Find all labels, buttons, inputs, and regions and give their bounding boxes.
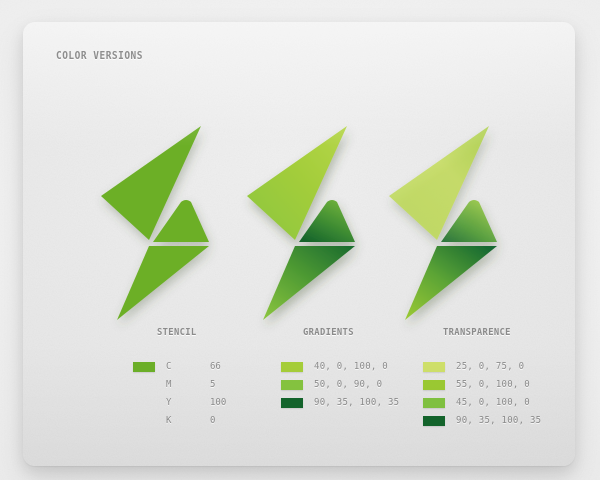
legend-row: Y 100 — [133, 395, 273, 410]
cmyk-channel-value: 0 — [210, 415, 215, 426]
swatch-spacer — [133, 398, 155, 408]
legend-row: 55, 0, 100, 0 — [423, 377, 575, 392]
color-swatch — [423, 398, 445, 408]
color-swatch — [423, 362, 445, 372]
logo-stencil — [87, 118, 247, 328]
logo-transparence — [375, 118, 535, 328]
legend-transparence: TRANSPARENCE 25, 0, 75, 0 55, 0, 100, 0 … — [423, 327, 575, 431]
legend-rows-transparence: 25, 0, 75, 0 55, 0, 100, 0 45, 0, 100, 0… — [423, 359, 575, 428]
logo-facet-lower-wing — [117, 246, 209, 320]
color-swatch — [133, 362, 155, 372]
legend-rows-stencil: C 66 M 5 Y 100 K 0 — [133, 359, 273, 428]
legend-row: 25, 0, 75, 0 — [423, 359, 575, 374]
logo-facet-lower-wing — [405, 246, 497, 320]
legend-row: K 0 — [133, 413, 273, 428]
legend-row: M 5 — [133, 377, 273, 392]
color-swatch — [423, 380, 445, 390]
cmyk-channel-label: K — [166, 415, 206, 426]
cmyk-channel-label: C — [166, 361, 206, 372]
legend-row: 90, 35, 100, 35 — [423, 413, 575, 428]
cmyk-value-label: 55, 0, 100, 0 — [456, 379, 530, 390]
legend-row: 45, 0, 100, 0 — [423, 395, 575, 410]
cmyk-value-label: 50, 0, 90, 0 — [314, 379, 382, 390]
legend-row: 50, 0, 90, 0 — [281, 377, 431, 392]
legend-row: C 66 — [133, 359, 273, 374]
legend-row: 40, 0, 100, 0 — [281, 359, 431, 374]
color-swatch — [281, 362, 303, 372]
cmyk-value-label: 90, 35, 100, 35 — [314, 397, 399, 408]
logo-gradients — [233, 118, 393, 328]
cmyk-value-label: 40, 0, 100, 0 — [314, 361, 388, 372]
logo-facet-lower-wing — [263, 246, 355, 320]
page-title: COLOR VERSIONS — [56, 49, 143, 62]
legend-title-stencil: STENCIL — [157, 327, 259, 338]
legend-rows-gradients: 40, 0, 100, 0 50, 0, 90, 0 90, 35, 100, … — [281, 359, 431, 410]
cmyk-channel-label: Y — [166, 397, 206, 408]
cmyk-channel-value: 66 — [210, 361, 221, 372]
swatch-spacer — [133, 416, 155, 426]
cmyk-value-label: 25, 0, 75, 0 — [456, 361, 524, 372]
page-root: COLOR VERSIONS — [0, 0, 600, 480]
legend-stencil: STENCIL C 66 M 5 Y 100 — [133, 327, 273, 431]
legend-row: 90, 35, 100, 35 — [281, 395, 431, 410]
cmyk-channel-value: 100 — [210, 397, 226, 408]
cmyk-value-label: 90, 35, 100, 35 — [456, 415, 541, 426]
color-swatch — [423, 416, 445, 426]
cmyk-channel-label: M — [166, 379, 206, 390]
color-swatch — [281, 398, 303, 408]
legend-gradients: GRADIENTS 40, 0, 100, 0 50, 0, 90, 0 90,… — [281, 327, 431, 413]
cmyk-value-label: 45, 0, 100, 0 — [456, 397, 530, 408]
legend-title-transparence: TRANSPARENCE — [443, 327, 566, 338]
swatch-spacer — [133, 380, 155, 390]
color-versions-card: COLOR VERSIONS — [23, 22, 575, 466]
cmyk-channel-value: 5 — [210, 379, 215, 390]
color-swatch — [281, 380, 303, 390]
legend-title-gradients: GRADIENTS — [303, 327, 416, 338]
